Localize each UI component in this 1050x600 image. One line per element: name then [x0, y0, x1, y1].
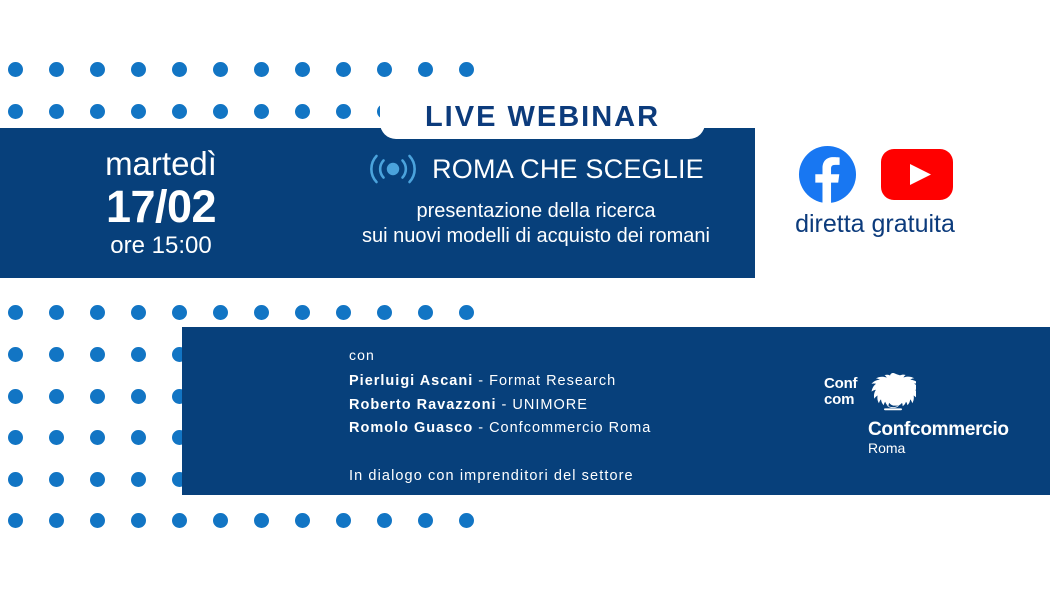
social-icon-row — [780, 143, 970, 205]
speaker-separator: - — [473, 373, 489, 389]
decorative-dot — [90, 389, 105, 404]
logo-brand-city: Roma — [868, 440, 1009, 458]
decorative-dot — [90, 305, 105, 320]
decorative-dot — [131, 430, 146, 445]
decorative-dot — [131, 472, 146, 487]
decorative-dot — [90, 472, 105, 487]
speaker-separator: - — [497, 397, 513, 413]
decorative-dot — [8, 389, 23, 404]
decorative-dot — [8, 305, 23, 320]
decorative-dot — [172, 513, 187, 528]
decorative-dot — [459, 305, 474, 320]
webinar-poster: LIVE WEBINAR martedì 17/02 ore 15:00 ROM… — [0, 0, 1050, 600]
speaker-row: Roberto Ravazzoni - UNIMORE — [349, 394, 651, 417]
facebook-icon[interactable] — [798, 145, 857, 204]
decorative-dot — [295, 62, 310, 77]
decorative-dot — [131, 347, 146, 362]
logo-confcom-wordmark: Conf com — [824, 370, 857, 407]
decorative-dot — [131, 513, 146, 528]
decorative-dot — [213, 62, 228, 77]
eagle-icon — [870, 370, 916, 412]
decorative-dot — [172, 305, 187, 320]
decorative-dot — [131, 62, 146, 77]
webinar-title: ROMA CHE SCEGLIE — [432, 156, 704, 183]
decorative-dot — [459, 513, 474, 528]
webinar-title-row: ROMA CHE SCEGLIE — [336, 150, 736, 188]
decorative-dot — [90, 62, 105, 77]
decorative-dot — [336, 104, 351, 119]
live-webinar-label: LIVE WEBINAR — [425, 103, 660, 134]
decorative-dot — [131, 104, 146, 119]
confcommercio-logo: Conf com Confcommercio Roma — [824, 370, 1009, 457]
speaker-org: Format Research — [489, 373, 616, 389]
decorative-dot — [49, 62, 64, 77]
speakers-intro: con — [349, 344, 651, 366]
logo-confcom-line1: Conf — [824, 376, 857, 392]
social-broadcast-block: diretta gratuita — [780, 143, 970, 237]
speakers-footer-note: In dialogo con imprenditori del settore — [349, 465, 651, 488]
decorative-dot — [49, 305, 64, 320]
decorative-dot — [172, 104, 187, 119]
decorative-dot — [418, 305, 433, 320]
live-webinar-banner: LIVE WEBINAR — [380, 98, 705, 139]
decorative-dot — [418, 513, 433, 528]
decorative-dot — [90, 513, 105, 528]
decorative-dot — [90, 347, 105, 362]
event-date-block: martedì 17/02 ore 15:00 — [0, 128, 322, 278]
broadcast-icon — [368, 150, 418, 188]
decorative-dot — [213, 104, 228, 119]
decorative-dot — [8, 472, 23, 487]
speaker-row: Romolo Guasco - Confcommercio Roma — [349, 417, 651, 440]
webinar-subtitle-line-2: sui nuovi modelli di acquisto dei romani — [336, 224, 736, 249]
decorative-dot — [49, 104, 64, 119]
decorative-dot — [377, 62, 392, 77]
speaker-org: UNIMORE — [512, 397, 587, 413]
speaker-org: Confcommercio Roma — [489, 420, 651, 436]
decorative-dot — [377, 513, 392, 528]
decorative-dot — [8, 62, 23, 77]
event-day: 17/02 — [106, 181, 216, 233]
youtube-icon[interactable] — [881, 149, 953, 200]
speaker-name: Pierluigi Ascani — [349, 373, 473, 389]
decorative-dot — [8, 513, 23, 528]
decorative-dot — [336, 62, 351, 77]
decorative-dot — [131, 389, 146, 404]
decorative-dot — [49, 513, 64, 528]
decorative-dot — [131, 305, 146, 320]
webinar-title-block: ROMA CHE SCEGLIE presentazione della ric… — [336, 150, 736, 249]
logo-confcom-line2: com — [824, 392, 857, 408]
decorative-dot — [49, 430, 64, 445]
diretta-gratuita-caption: diretta gratuita — [780, 212, 970, 237]
decorative-dot — [172, 62, 187, 77]
event-weekday: martedì — [105, 147, 217, 182]
decorative-dot — [377, 305, 392, 320]
decorative-dot — [213, 305, 228, 320]
decorative-dot — [418, 62, 433, 77]
decorative-dot — [8, 347, 23, 362]
decorative-dot — [254, 104, 269, 119]
decorative-dot — [49, 389, 64, 404]
speakers-block: con Pierluigi Ascani - Format Research R… — [349, 344, 651, 488]
decorative-dot — [213, 513, 228, 528]
logo-brand-name: Confcommercio — [868, 420, 1009, 440]
speaker-name: Roberto Ravazzoni — [349, 397, 497, 413]
decorative-dot — [90, 430, 105, 445]
decorative-dot — [295, 513, 310, 528]
decorative-dot — [254, 513, 269, 528]
decorative-dot — [8, 430, 23, 445]
decorative-dot — [49, 472, 64, 487]
decorative-dot — [295, 104, 310, 119]
event-time: ore 15:00 — [110, 233, 211, 259]
decorative-dot — [49, 347, 64, 362]
speaker-name: Romolo Guasco — [349, 420, 473, 436]
decorative-dot — [8, 104, 23, 119]
speaker-row: Pierluigi Ascani - Format Research — [349, 370, 651, 393]
decorative-dot — [459, 62, 474, 77]
decorative-dot — [336, 513, 351, 528]
webinar-subtitle-line-1: presentazione della ricerca — [336, 199, 736, 224]
decorative-dot — [336, 305, 351, 320]
decorative-dot — [254, 305, 269, 320]
decorative-dot — [295, 305, 310, 320]
decorative-dot — [90, 104, 105, 119]
speaker-separator: - — [473, 420, 489, 436]
logo-mark-row: Conf com — [824, 370, 1009, 412]
decorative-dot — [254, 62, 269, 77]
